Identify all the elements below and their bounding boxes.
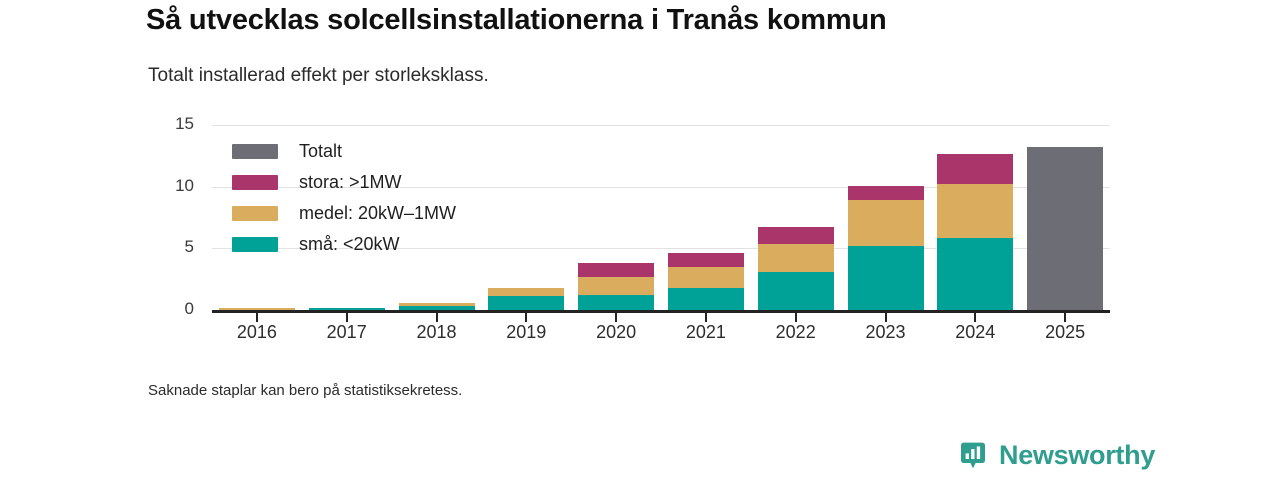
bar-segment-medium-2022[interactable] [758, 244, 834, 272]
legend-swatch-icon [232, 144, 278, 159]
bar-segment-small-2019[interactable] [488, 296, 564, 310]
bar-segment-medium-2024[interactable] [937, 184, 1013, 238]
x-axis-tick-label-2023: 2023 [841, 322, 931, 343]
bar-segment-small-2021[interactable] [668, 288, 744, 310]
bar-chart-pin-icon [958, 441, 988, 471]
x-axis-tick-label-2019: 2019 [481, 322, 571, 343]
y-axis-tick-label: 0 [154, 299, 194, 319]
x-axis-tick-mark [256, 311, 258, 322]
x-axis-tick-mark [525, 311, 527, 322]
bar-segment-large-2024[interactable] [937, 154, 1013, 184]
x-axis-tick-mark [615, 311, 617, 322]
legend-swatch-icon [232, 237, 278, 252]
x-axis-tick-label-2021: 2021 [661, 322, 751, 343]
bar-segment-large-2021[interactable] [668, 253, 744, 267]
x-axis-tick-label-2022: 2022 [751, 322, 841, 343]
bar-segment-small-2017[interactable] [309, 308, 385, 310]
legend-item-label: medel: 20kW–1MW [299, 203, 456, 224]
legend-item-label: små: <20kW [299, 234, 400, 255]
newsworthy-logo[interactable]: Newsworthy [958, 440, 1155, 471]
legend-item-2[interactable]: medel: 20kW–1MW [232, 198, 456, 229]
bar-segment-large-2020[interactable] [578, 263, 654, 277]
x-axis-tick-mark [1064, 311, 1066, 322]
bar-segment-medium-2019[interactable] [488, 288, 564, 295]
bar-segment-medium-2021[interactable] [668, 267, 744, 289]
y-axis-tick-label: 15 [154, 114, 194, 134]
bar-segment-large-2023[interactable] [848, 186, 924, 200]
bar-segment-medium-2016[interactable] [219, 308, 295, 309]
chart-legend: Totaltstora: >1MWmedel: 20kW–1MWsmå: <20… [232, 136, 456, 260]
chart-page: Så utvecklas solcellsinstallationerna i … [0, 0, 1280, 480]
x-axis-tick-mark [885, 311, 887, 322]
bar-segment-medium-2020[interactable] [578, 277, 654, 295]
x-axis-tick-label-2024: 2024 [930, 322, 1020, 343]
legend-item-3[interactable]: små: <20kW [232, 229, 456, 260]
x-axis-tick-mark [436, 311, 438, 322]
bar-segment-small-2023[interactable] [848, 246, 924, 310]
x-axis-tick-mark [705, 311, 707, 322]
x-axis-tick-label-2020: 2020 [571, 322, 661, 343]
plot-area: 051015 201620172018201920202021202220232… [0, 0, 1280, 360]
bar-segment-small-2020[interactable] [578, 295, 654, 310]
legend-item-0[interactable]: Totalt [232, 136, 456, 167]
x-axis-tick-mark [974, 311, 976, 322]
x-axis-tick-label-2016: 2016 [212, 322, 302, 343]
legend-item-label: stora: >1MW [299, 172, 402, 193]
bar-segment-large-2022[interactable] [758, 227, 834, 244]
x-axis-tick-label-2025: 2025 [1020, 322, 1110, 343]
bar-segment-small-2024[interactable] [937, 238, 1013, 310]
bar-segment-medium-2018[interactable] [399, 303, 475, 305]
legend-item-label: Totalt [299, 141, 342, 162]
brand-name: Newsworthy [999, 440, 1155, 471]
bar-segment-total-2025[interactable] [1027, 147, 1103, 310]
y-axis-tick-label: 10 [154, 176, 194, 196]
legend-swatch-icon [232, 206, 278, 221]
bar-segment-medium-2023[interactable] [848, 200, 924, 246]
x-axis-tick-mark [346, 311, 348, 322]
x-axis-tick-mark [795, 311, 797, 322]
x-axis-tick-label-2018: 2018 [392, 322, 482, 343]
legend-item-1[interactable]: stora: >1MW [232, 167, 456, 198]
bar-segment-small-2022[interactable] [758, 272, 834, 310]
chart-footnote: Saknade staplar kan bero på statistiksek… [148, 382, 462, 399]
gridline-15 [212, 125, 1110, 126]
y-axis-tick-label: 5 [154, 237, 194, 257]
legend-swatch-icon [232, 175, 278, 190]
x-axis-tick-label-2017: 2017 [302, 322, 392, 343]
bar-segment-small-2018[interactable] [399, 306, 475, 310]
